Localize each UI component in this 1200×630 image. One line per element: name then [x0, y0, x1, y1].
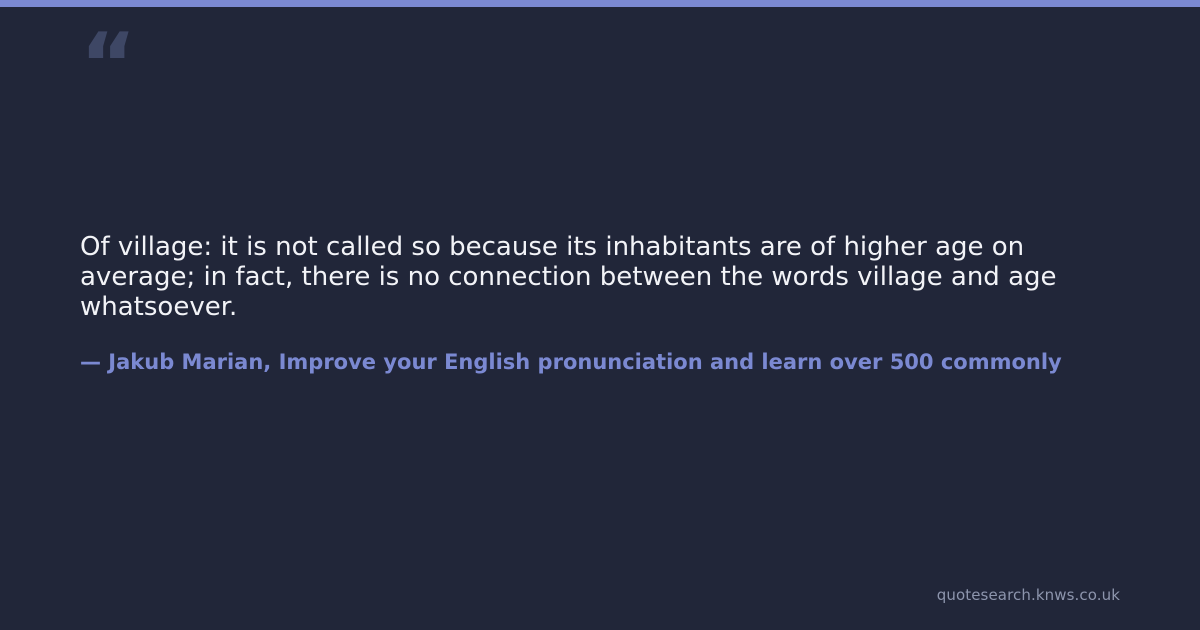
quote-card: “ Of village: it is not called so becaus…	[0, 0, 1200, 630]
quote-content: Of village: it is not called so because …	[80, 232, 1200, 375]
quote-text: Of village: it is not called so because …	[80, 232, 1090, 322]
top-accent-bar	[0, 0, 1200, 7]
site-watermark: quotesearch.knws.co.uk	[937, 586, 1120, 604]
open-quote-icon: “	[80, 22, 135, 108]
quote-attribution: — Jakub Marian, Improve your English pro…	[80, 349, 1200, 375]
